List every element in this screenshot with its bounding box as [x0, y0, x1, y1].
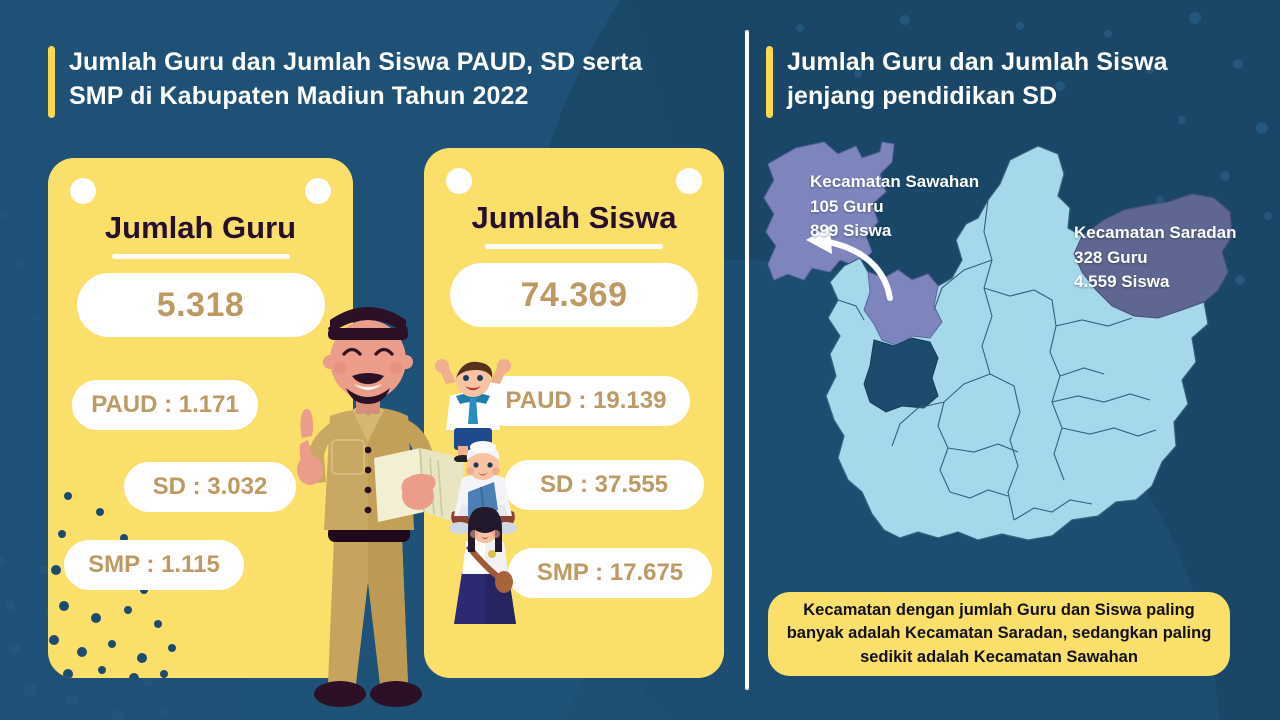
- card-heading-siswa: Jumlah Siswa: [424, 200, 724, 236]
- map-label-sawahan-teachers: 105 Guru: [810, 195, 979, 220]
- title-accent-bar: [766, 46, 773, 118]
- right-panel-title-text: Jumlah Guru dan Jumlah Siswa jenjang pen…: [787, 46, 1168, 114]
- map-region-dark[interactable]: [864, 338, 938, 412]
- map-label-saradan-students: 4.559 Siswa: [1074, 270, 1237, 295]
- panel-divider: [745, 30, 749, 690]
- left-panel-title: Jumlah Guru dan Jumlah Siswa PAUD, SD se…: [48, 46, 642, 118]
- right-panel-title: Jumlah Guru dan Jumlah Siswa jenjang pen…: [766, 46, 1168, 118]
- map-label-sawahan-students: 899 Siswa: [810, 219, 979, 244]
- map-label-sawahan: Kecamatan Sawahan 105 Guru 899 Siswa: [810, 170, 979, 244]
- total-value-siswa: 74.369: [450, 263, 698, 327]
- map-label-saradan-teachers: 328 Guru: [1074, 246, 1237, 271]
- girl-student-illustration: [448, 506, 522, 632]
- left-panel-title-text: Jumlah Guru dan Jumlah Siswa PAUD, SD se…: [69, 46, 642, 114]
- card-punch-hole-left: [446, 168, 472, 194]
- card-punch-hole-right: [676, 168, 702, 194]
- map-label-sawahan-name: Kecamatan Sawahan: [810, 170, 979, 195]
- card-heading-rule: [112, 254, 290, 259]
- summary-caption-box: Kecamatan dengan jumlah Guru dan Siswa p…: [768, 592, 1230, 676]
- stat-pill-smp-siswa: SMP : 17.675: [508, 548, 712, 598]
- infographic-root: Jumlah Guru dan Jumlah Siswa PAUD, SD se…: [0, 0, 1280, 720]
- map-label-saradan: Kecamatan Saradan 328 Guru 4.559 Siswa: [1074, 221, 1237, 295]
- stat-pill-sd-siswa: SD : 37.555: [504, 460, 704, 510]
- card-punch-hole-left: [70, 178, 96, 204]
- title-accent-bar: [48, 46, 55, 118]
- card-heading-rule: [485, 244, 663, 249]
- card-punch-hole-right: [305, 178, 331, 204]
- stat-pill-paud-guru: PAUD : 1.171: [72, 380, 258, 430]
- summary-caption-text: Kecamatan dengan jumlah Guru dan Siswa p…: [786, 599, 1212, 669]
- card-heading-guru: Jumlah Guru: [48, 210, 353, 246]
- map-label-saradan-name: Kecamatan Saradan: [1074, 221, 1237, 246]
- stat-pill-smp-guru: SMP : 1.115: [64, 540, 244, 590]
